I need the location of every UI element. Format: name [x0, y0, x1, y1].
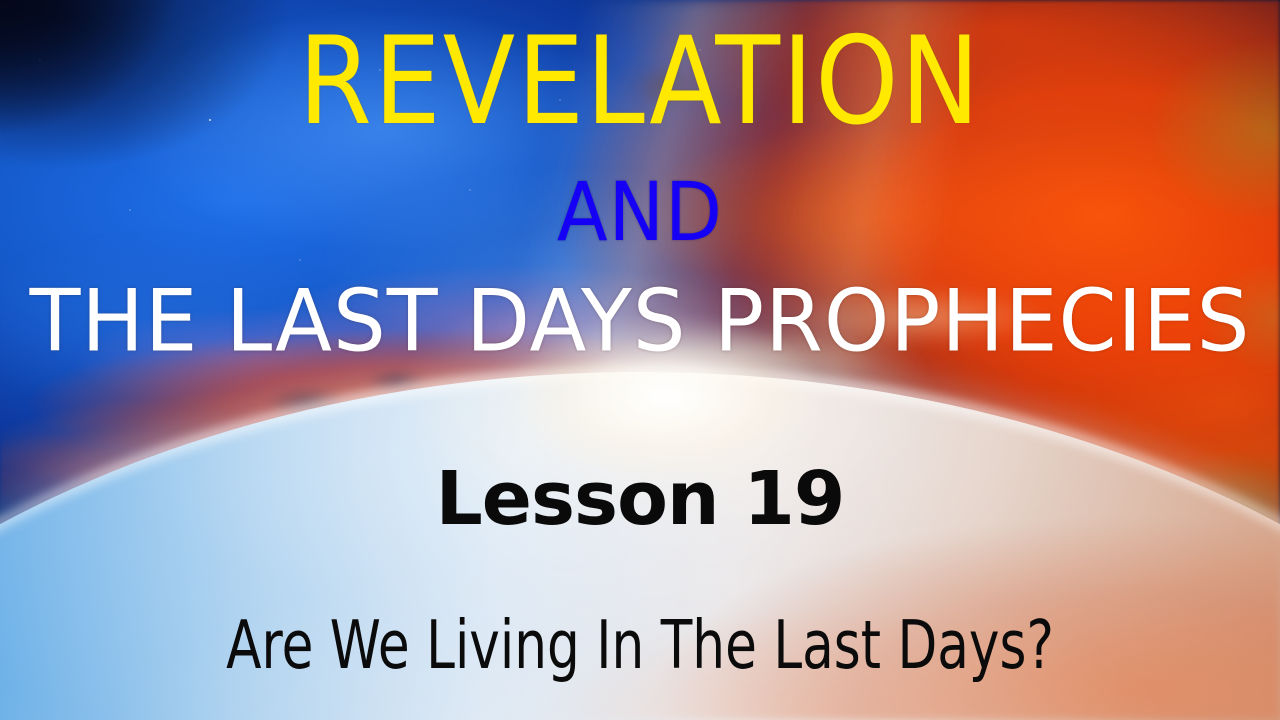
title-slide: REVELATION AND THE LAST DAYS PROPHECIES …	[0, 0, 1280, 720]
title-line-last-days-prophecies: THE LAST DAYS PROPHECIES	[6, 278, 1273, 364]
subtitle-question: Are We Living In The Last Days?	[38, 612, 1241, 679]
title-line-revelation: REVELATION	[13, 22, 1267, 143]
title-line-and: AND	[0, 172, 1280, 253]
lesson-number-label: Lesson 19	[0, 462, 1280, 536]
